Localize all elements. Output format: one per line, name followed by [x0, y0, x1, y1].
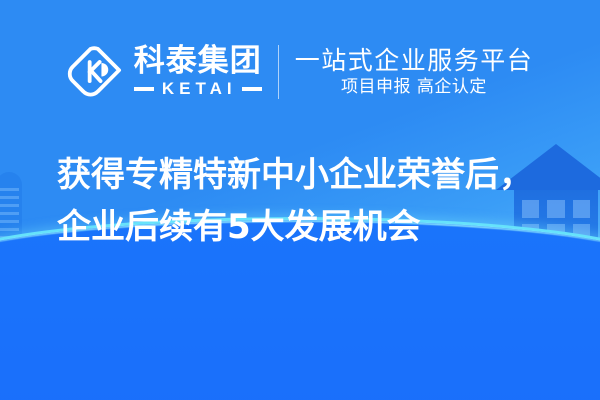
- promo-banner: 科泰集团 KETAI 一站式企业服务平台 项目申报 高企认定 获得专精特新中小企…: [0, 0, 600, 400]
- slogan-main-text: 一站式企业服务平台: [295, 47, 534, 75]
- page-title: 获得专精特新中小企业荣誉后，企业后续有5大发展机会: [57, 150, 555, 253]
- brand-name-en: KETAI: [159, 79, 237, 99]
- slogan-block: 一站式企业服务平台 项目申报 高企认定: [295, 47, 534, 96]
- brand-name-cn: 科泰集团: [134, 45, 262, 78]
- banner-header: 科泰集团 KETAI 一站式企业服务平台 项目申报 高企认定: [0, 34, 600, 110]
- slogan-sub-text: 项目申报 高企认定: [341, 78, 487, 97]
- brand-text-block: 科泰集团 KETAI: [134, 45, 262, 99]
- brand-name-en-row: KETAI: [134, 79, 262, 99]
- ketai-logo-icon: [67, 43, 125, 101]
- brand-rule-right-icon: [242, 87, 262, 91]
- brand-rule-left-icon: [134, 87, 154, 91]
- header-divider: [278, 45, 279, 99]
- brand-lockup[interactable]: 科泰集团 KETAI: [67, 43, 278, 101]
